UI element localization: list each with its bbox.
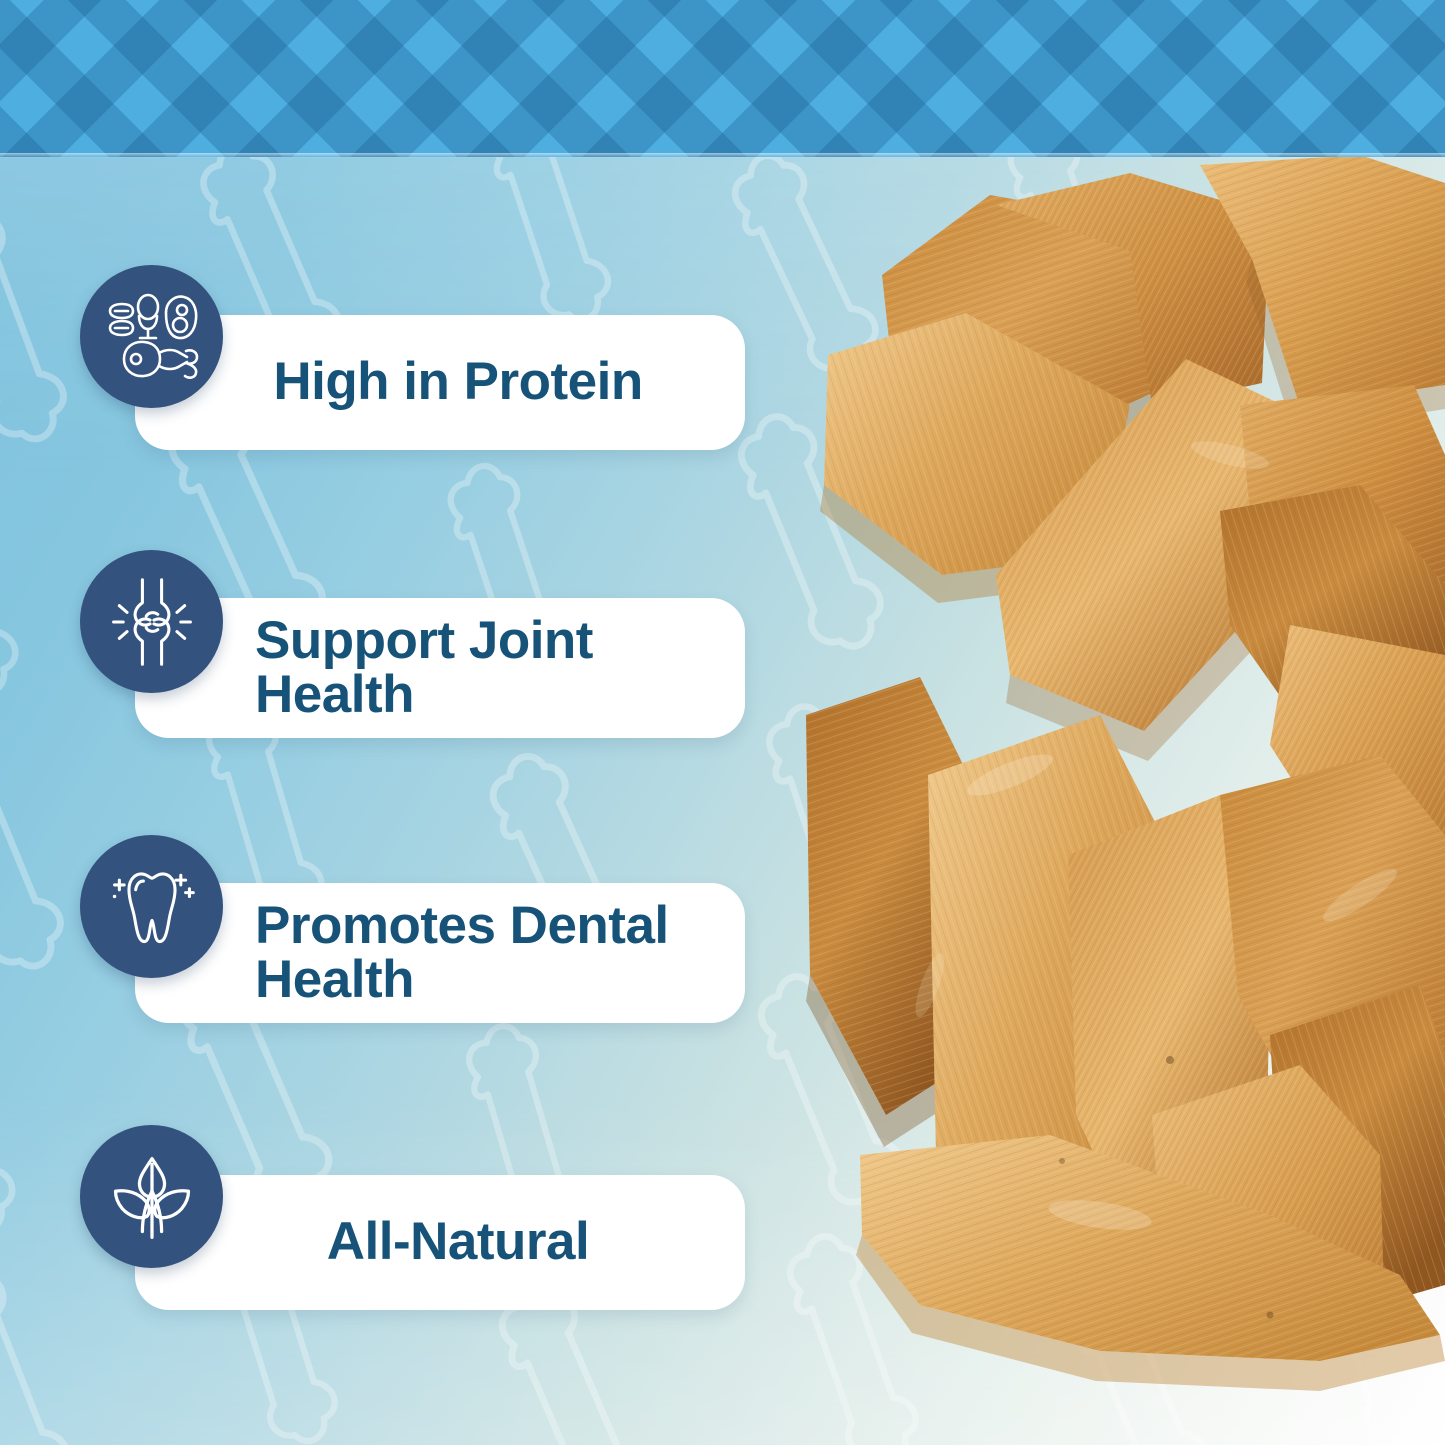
infographic-canvas: High in Protein bbox=[0, 0, 1445, 1445]
benefit-label: High in Protein bbox=[273, 355, 642, 409]
leaf-plant-icon bbox=[80, 1125, 223, 1268]
benefit-row-high-in-protein[interactable]: High in Protein bbox=[0, 265, 800, 465]
benefit-label: Promotes Dental Health bbox=[255, 899, 669, 1007]
benefit-card: Support Joint Health bbox=[135, 598, 745, 738]
benefit-label: All-Natural bbox=[327, 1215, 589, 1269]
product-photo bbox=[800, 155, 1445, 1445]
benefit-row-promotes-dental-health[interactable]: Promotes Dental Health bbox=[0, 835, 800, 1035]
benefit-card: High in Protein bbox=[135, 315, 745, 450]
benefit-row-support-joint-health[interactable]: Support Joint Health bbox=[0, 550, 800, 750]
benefit-card: All-Natural bbox=[135, 1175, 745, 1310]
benefit-row-all-natural[interactable]: All-Natural bbox=[0, 1125, 800, 1325]
benefit-label: Support Joint Health bbox=[255, 614, 593, 722]
protein-foods-icon bbox=[80, 265, 223, 408]
tooth-icon bbox=[80, 835, 223, 978]
benefit-card: Promotes Dental Health bbox=[135, 883, 745, 1023]
benefits-list: High in Protein bbox=[0, 0, 800, 1445]
joint-health-icon bbox=[80, 550, 223, 693]
